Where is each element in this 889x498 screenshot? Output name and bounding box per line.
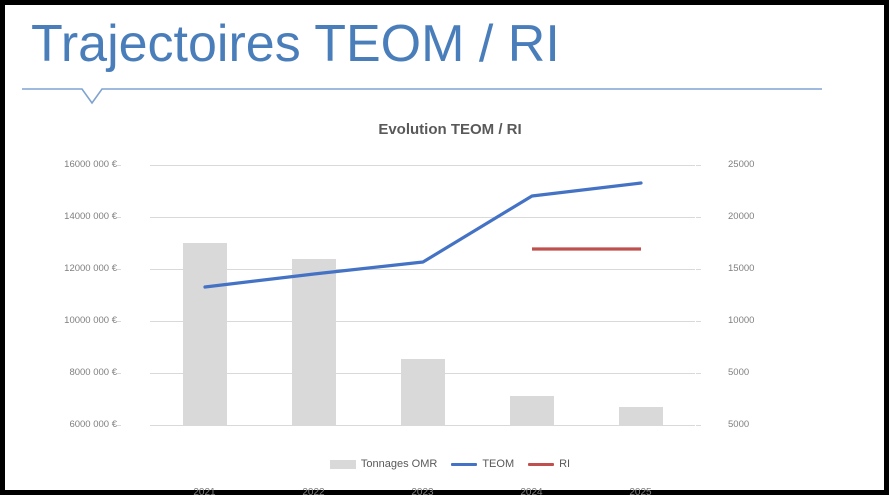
series-lines <box>150 165 695 429</box>
teom-line <box>205 183 641 287</box>
x-axis-label: 2025 <box>586 487 695 498</box>
legend-label: RI <box>559 458 570 470</box>
x-axis-label: 2024 <box>477 487 586 498</box>
chart-title: Evolution TEOM / RI <box>125 121 775 138</box>
axis-tick-right <box>696 321 701 322</box>
y-axis-left-label: 12000 000 € <box>31 263 117 274</box>
divider-chevron-icon <box>22 83 822 107</box>
title-divider <box>22 83 822 107</box>
legend-label: TEOM <box>482 458 514 470</box>
y-axis-right-label: 25000 <box>728 159 788 170</box>
y-axis-right-label: 5000 <box>728 367 788 378</box>
legend-item-ri[interactable]: RI <box>528 458 570 470</box>
y-axis-left-label: 8000 000 € <box>31 367 117 378</box>
slide: Trajectoires TEOM / RI Evolution TEOM / … <box>0 0 889 495</box>
x-axis-label: 2022 <box>259 487 368 498</box>
axis-tick-right <box>696 165 701 166</box>
x-axis-label: 2021 <box>150 487 259 498</box>
y-axis-right-label: 20000 <box>728 211 788 222</box>
legend-item-tonnages-omr[interactable]: Tonnages OMR <box>330 458 437 470</box>
legend-swatch-line-icon <box>528 463 554 466</box>
chart: Evolution TEOM / RI 16000 000 € 14000 00… <box>125 113 775 488</box>
plot-area: 16000 000 € 14000 000 € 12000 000 € 1000… <box>150 165 695 429</box>
axis-tick-right <box>696 373 701 374</box>
page-title: Trajectoires TEOM / RI <box>31 13 560 75</box>
y-axis-right-label: 5000 <box>728 419 788 430</box>
legend-label: Tonnages OMR <box>361 458 437 470</box>
chart-legend: Tonnages OMR TEOM RI <box>125 458 775 470</box>
legend-item-teom[interactable]: TEOM <box>451 458 514 470</box>
y-axis-right-label: 15000 <box>728 263 788 274</box>
x-axis-label: 2023 <box>368 487 477 498</box>
y-axis-left-label: 10000 000 € <box>31 315 117 326</box>
y-axis-left-label: 14000 000 € <box>31 211 117 222</box>
y-axis-left-label: 6000 000 € <box>31 419 117 430</box>
y-axis-left-label: 16000 000 € <box>31 159 117 170</box>
legend-swatch-bar-icon <box>330 460 356 469</box>
legend-swatch-line-icon <box>451 463 477 466</box>
axis-tick-right <box>696 217 701 218</box>
y-axis-right-label: 10000 <box>728 315 788 326</box>
axis-tick-right <box>696 425 701 426</box>
axis-tick-right <box>696 269 701 270</box>
